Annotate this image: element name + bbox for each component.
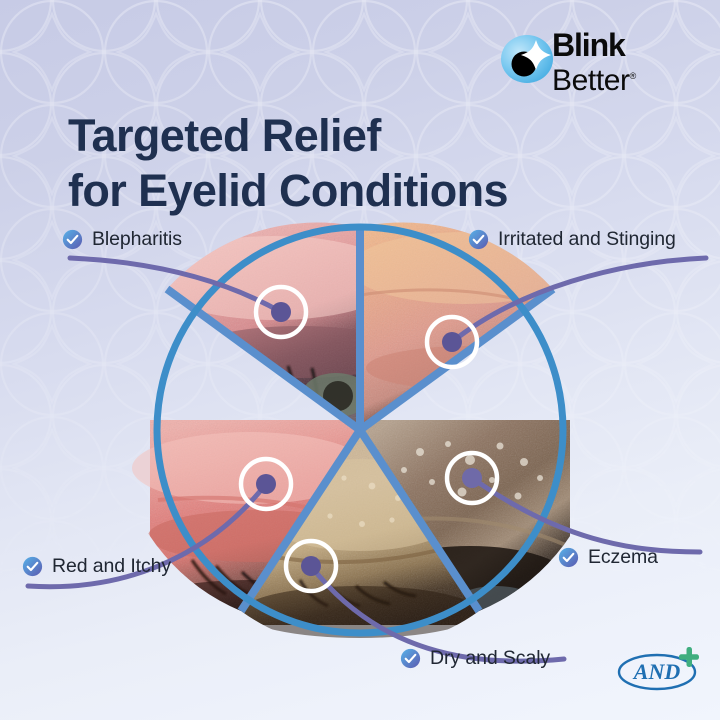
check-circle-icon xyxy=(468,229,489,250)
condition-label-blepharitis[interactable]: Blepharitis xyxy=(62,228,182,251)
check-circle-icon xyxy=(400,648,421,669)
condition-label-text: Eczema xyxy=(588,546,658,569)
condition-label-irritated[interactable]: Irritated and Stinging xyxy=(468,228,676,251)
infographic-canvas: Targeted Relief for Eyelid Conditions Bl… xyxy=(0,0,720,720)
condition-label-red-itchy[interactable]: Red and Itchy xyxy=(22,555,171,578)
condition-label-text: Blepharitis xyxy=(92,228,182,251)
blink-better-logo[interactable]: Blink Better® xyxy=(500,33,670,95)
condition-label-text: Dry and Scaly xyxy=(430,647,550,670)
condition-label-text: Irritated and Stinging xyxy=(498,228,676,251)
and-star-icon xyxy=(679,647,699,667)
check-circle-icon xyxy=(62,229,83,250)
brand-wordmark: Blink Better® xyxy=(552,30,636,96)
brand-name-better: Better® xyxy=(552,61,636,96)
registered-mark: ® xyxy=(630,71,637,81)
and-logo-text: AND xyxy=(632,659,681,684)
check-circle-icon xyxy=(558,547,579,568)
check-circle-icon xyxy=(22,556,43,577)
title-line-2: for Eyelid Conditions xyxy=(68,163,608,218)
condition-label-text: Red and Itchy xyxy=(52,555,171,578)
title-line-1: Targeted Relief xyxy=(68,110,381,161)
condition-label-eczema[interactable]: Eczema xyxy=(558,546,658,569)
and-partner-logo[interactable]: AND xyxy=(613,645,705,693)
brand-name-blink: Blink xyxy=(552,30,636,61)
condition-label-dry-scaly[interactable]: Dry and Scaly xyxy=(400,647,550,670)
page-title: Targeted Relief for Eyelid Conditions xyxy=(68,108,608,219)
eye-sparkle-icon xyxy=(500,33,558,85)
